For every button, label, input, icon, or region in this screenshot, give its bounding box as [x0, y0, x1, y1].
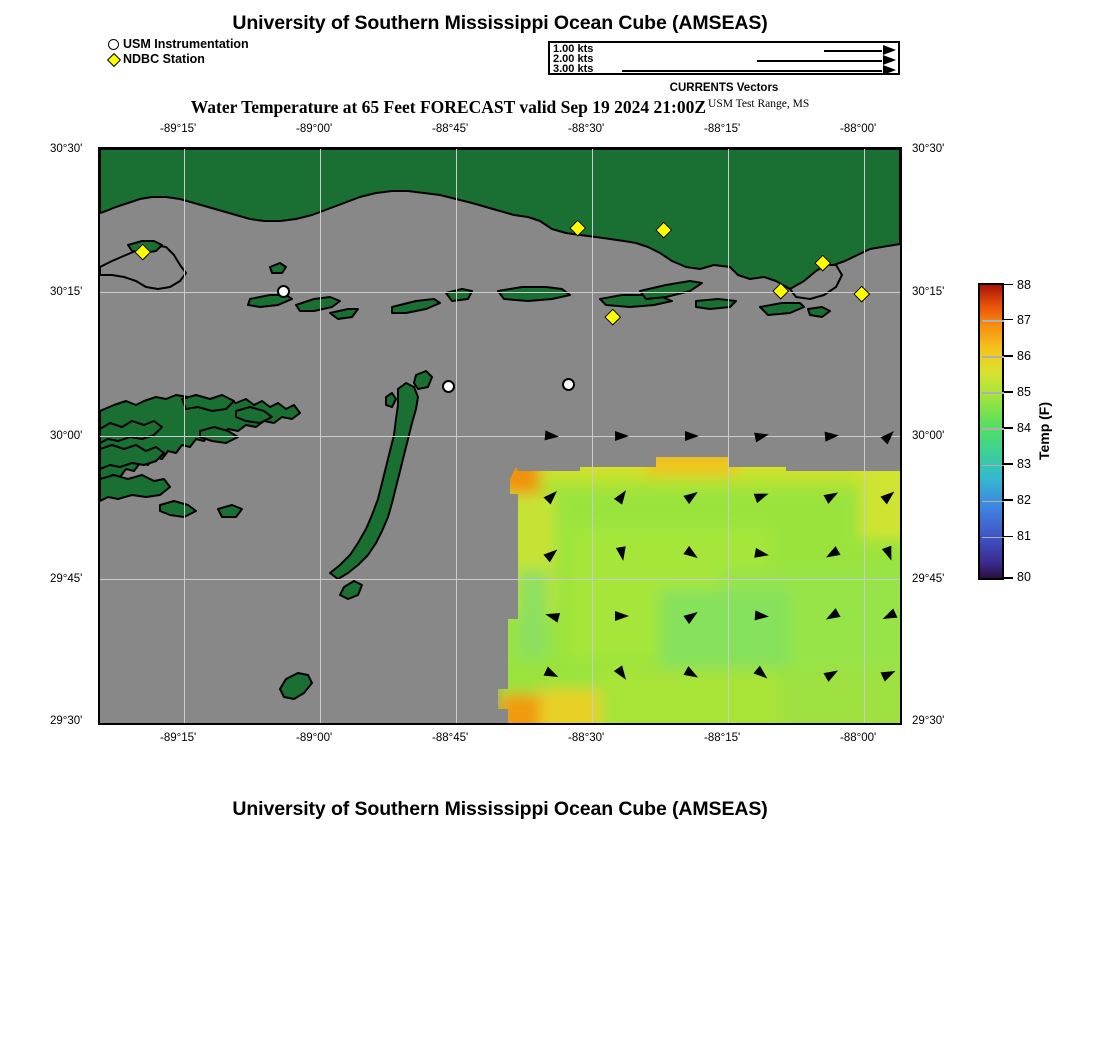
usm-instrumentation-marker[interactable] [562, 378, 575, 391]
axis-tick-major [864, 147, 866, 149]
axis-tick-major [900, 436, 902, 438]
axis-tick [900, 412, 902, 413]
station-legend: USM Instrumentation NDBC Station [108, 37, 249, 67]
x-axis-label-bottom: -89°15' [160, 732, 196, 744]
axis-tick-major [900, 149, 902, 151]
axis-tick [524, 147, 525, 149]
diamond-marker-icon [106, 52, 120, 66]
y-axis-label-right: 29°30' [912, 715, 944, 727]
axis-tick-major [900, 721, 902, 723]
axis-tick [615, 723, 616, 725]
axis-tick [900, 675, 902, 676]
axis-tick [900, 340, 902, 341]
colorbar-axis-title: Temp (F) [1036, 402, 1052, 460]
current-vector-arrow [755, 610, 770, 621]
axis-tick [501, 147, 502, 149]
axis-tick [98, 508, 100, 509]
axis-tick [841, 147, 842, 149]
vector-key-arrowhead-3 [883, 65, 896, 75]
axis-tick [569, 723, 570, 725]
gridline-horizontal [100, 579, 900, 580]
colorbar-inner-line [982, 392, 1004, 394]
axis-tick [229, 147, 230, 149]
axis-tick [98, 675, 100, 676]
axis-tick [637, 147, 638, 149]
axis-tick-major [184, 723, 186, 725]
x-axis-label-top: -89°15' [160, 123, 196, 135]
gridline-horizontal [100, 436, 900, 437]
axis-tick [411, 147, 412, 149]
current-vector-arrow [825, 430, 840, 441]
axis-tick [98, 340, 100, 341]
colorbar-tick-label: 81 [1017, 529, 1031, 543]
axis-tick [252, 147, 253, 149]
axis-tick [116, 723, 117, 725]
vector-key-label-3: 3.00 kts [553, 64, 593, 75]
x-axis-label-top: -88°00' [840, 123, 876, 135]
axis-tick [900, 460, 902, 461]
axis-tick [900, 699, 902, 700]
y-axis-label-right: 29°45' [912, 573, 944, 585]
axis-tick [773, 147, 774, 149]
colorbar-inner-line [982, 465, 1004, 467]
axis-tick [547, 723, 548, 725]
colorbar-tick [1004, 284, 1013, 286]
axis-tick [796, 147, 797, 149]
axis-tick-major [98, 721, 100, 723]
axis-tick [900, 269, 902, 270]
axis-tick [900, 603, 902, 604]
current-vector-arrow [685, 431, 699, 441]
axis-tick [479, 147, 480, 149]
x-axis-label-top: -88°45' [432, 123, 468, 135]
footer-title: University of Southern Mississippi Ocean… [0, 798, 1000, 821]
axis-tick [900, 197, 902, 198]
axis-tick [139, 723, 140, 725]
axis-tick [900, 316, 902, 317]
y-axis-label-left: 30°30' [50, 143, 82, 155]
x-axis-label-bottom: -88°00' [840, 732, 876, 744]
axis-tick [365, 723, 366, 725]
axis-tick [524, 723, 525, 725]
axis-tick [433, 723, 434, 725]
axis-tick [98, 245, 100, 246]
axis-tick [683, 723, 684, 725]
axis-tick-major [900, 579, 902, 581]
x-axis-label-top: -89°00' [296, 123, 332, 135]
axis-tick-major [456, 723, 458, 725]
axis-tick-major [98, 436, 100, 438]
axis-tick [98, 388, 100, 389]
axis-tick [297, 147, 298, 149]
colorbar-tick-label: 88 [1017, 278, 1031, 292]
vector-key-shaft-1 [824, 50, 882, 52]
axis-tick [900, 221, 902, 222]
colorbar-inner-line [982, 428, 1004, 430]
vector-key-arrowhead-1 [883, 45, 896, 55]
axis-tick [683, 147, 684, 149]
axis-tick [900, 508, 902, 509]
axis-tick [343, 723, 344, 725]
axis-tick-major [864, 723, 866, 725]
current-vector-arrow [615, 431, 629, 441]
axis-tick [569, 147, 570, 149]
legend-label-ndbc: NDBC Station [123, 52, 205, 67]
x-axis-label-bottom: -88°15' [704, 732, 740, 744]
forecast-subtitle-text: Water Temperature at 65 Feet FORECAST va… [191, 97, 706, 117]
axis-tick [98, 412, 100, 413]
legend-item-ndbc-station: NDBC Station [108, 52, 249, 67]
y-axis-label-left: 29°45' [50, 573, 82, 585]
current-vector-arrow [615, 611, 629, 621]
axis-tick [98, 364, 100, 365]
vector-key-row-3: 3.00 kts [550, 65, 898, 76]
legend-item-usm-instrumentation: USM Instrumentation [108, 37, 249, 52]
legend-label-usm: USM Instrumentation [123, 37, 249, 52]
axis-tick [751, 723, 752, 725]
colorbar-tick [1004, 391, 1013, 393]
vector-key-shaft-2 [757, 60, 882, 62]
colorbar-tick-label: 86 [1017, 349, 1031, 363]
x-axis-label-bottom: -88°45' [432, 732, 468, 744]
colorbar-inner-line [982, 537, 1004, 539]
axis-tick [207, 723, 208, 725]
axis-tick [660, 723, 661, 725]
axis-tick [900, 245, 902, 246]
axis-tick [98, 532, 100, 533]
axis-tick [900, 364, 902, 365]
axis-tick [819, 723, 820, 725]
map-plot-area[interactable] [98, 147, 902, 725]
colorbar-tick-label: 83 [1017, 457, 1031, 471]
page-title: University of Southern Mississippi Ocean… [0, 12, 1000, 35]
axis-tick [900, 651, 902, 652]
axis-tick-major [456, 147, 458, 149]
axis-tick [900, 173, 902, 174]
axis-tick [98, 627, 100, 628]
axis-tick [637, 723, 638, 725]
colorbar-tick [1004, 355, 1013, 357]
axis-tick [411, 723, 412, 725]
colorbar-tick [1004, 536, 1013, 538]
axis-tick [660, 147, 661, 149]
y-axis-label-right: 30°30' [912, 143, 944, 155]
axis-tick [98, 197, 100, 198]
axis-tick [98, 556, 100, 557]
y-axis-label-left: 30°00' [50, 430, 82, 442]
axis-tick [501, 723, 502, 725]
colorbar-tick-label: 84 [1017, 421, 1031, 435]
axis-tick-major [728, 147, 730, 149]
axis-tick [900, 388, 902, 389]
axis-tick [796, 723, 797, 725]
map-canvas[interactable] [100, 149, 900, 723]
current-vector-arrow [545, 430, 560, 441]
axis-tick [139, 147, 140, 149]
axis-tick [705, 147, 706, 149]
circle-marker-icon [108, 39, 119, 50]
axis-tick-major [98, 579, 100, 581]
axis-tick [161, 723, 162, 725]
currents-vector-key: 1.00 kts 2.00 kts 3.00 kts [548, 41, 900, 75]
axis-tick [275, 147, 276, 149]
vector-key-caption: CURRENTS Vectors [548, 82, 900, 94]
axis-tick [615, 147, 616, 149]
colorbar-inner-line [982, 501, 1004, 503]
colorbar-tick [1004, 577, 1013, 579]
axis-tick [98, 316, 100, 317]
axis-tick [479, 723, 480, 725]
axis-tick [116, 147, 117, 149]
axis-tick-major [320, 723, 322, 725]
axis-tick [98, 699, 100, 700]
vector-key-arrowhead-2 [883, 55, 896, 65]
axis-tick [751, 147, 752, 149]
axis-tick [207, 147, 208, 149]
axis-tick-major [728, 723, 730, 725]
axis-tick [841, 723, 842, 725]
axis-tick [98, 460, 100, 461]
forecast-subtitle: Water Temperature at 65 Feet FORECAST va… [0, 97, 1000, 118]
axis-tick [98, 603, 100, 604]
axis-tick [900, 556, 902, 557]
axis-tick [887, 723, 888, 725]
axis-tick [388, 723, 389, 725]
colorbar-tick-label: 82 [1017, 493, 1031, 507]
axis-tick [900, 484, 902, 485]
axis-tick [900, 532, 902, 533]
axis-tick [388, 147, 389, 149]
x-axis-label-bottom: -88°30' [568, 732, 604, 744]
axis-tick-major [184, 147, 186, 149]
x-axis-label-top: -88°15' [704, 123, 740, 135]
axis-tick [275, 723, 276, 725]
axis-tick [819, 147, 820, 149]
axis-tick [547, 147, 548, 149]
axis-tick [705, 723, 706, 725]
axis-tick-major [592, 723, 594, 725]
colorbar-tick [1004, 427, 1013, 429]
axis-tick [297, 723, 298, 725]
x-axis-label-bottom: -89°00' [296, 732, 332, 744]
colorbar-tick-label: 87 [1017, 313, 1031, 327]
colorbar-tick [1004, 499, 1013, 501]
axis-tick [365, 147, 366, 149]
vector-key-shaft-3 [622, 70, 882, 72]
colorbar-gradient [978, 283, 1004, 580]
colorbar-inner-line [982, 320, 1004, 322]
y-axis-label-right: 30°15' [912, 286, 944, 298]
axis-tick [98, 221, 100, 222]
y-axis-label-left: 30°15' [50, 286, 82, 298]
colorbar-tick-label: 80 [1017, 570, 1031, 584]
colorbar-inner-line [982, 356, 1004, 358]
axis-tick [343, 147, 344, 149]
forecast-subtitle-superscript: USM Test Range, MS [708, 98, 809, 110]
axis-tick [98, 484, 100, 485]
usm-instrumentation-marker[interactable] [442, 380, 455, 393]
axis-tick [773, 723, 774, 725]
axis-tick [161, 147, 162, 149]
usm-instrumentation-marker[interactable] [277, 285, 290, 298]
axis-tick [252, 723, 253, 725]
axis-tick [98, 651, 100, 652]
axis-tick-major [900, 292, 902, 294]
axis-tick-major [98, 292, 100, 294]
axis-tick-major [592, 147, 594, 149]
colorbar-tick [1004, 319, 1013, 321]
axis-tick [98, 269, 100, 270]
axis-tick [98, 173, 100, 174]
axis-tick-major [320, 147, 322, 149]
y-axis-label-right: 30°00' [912, 430, 944, 442]
axis-tick-major [98, 149, 100, 151]
axis-tick [887, 147, 888, 149]
colorbar-tick [1004, 463, 1013, 465]
axis-tick [229, 723, 230, 725]
colorbar-tick-label: 85 [1017, 385, 1031, 399]
x-axis-label-top: -88°30' [568, 123, 604, 135]
axis-tick [900, 627, 902, 628]
axis-tick [433, 147, 434, 149]
y-axis-label-left: 29°30' [50, 715, 82, 727]
